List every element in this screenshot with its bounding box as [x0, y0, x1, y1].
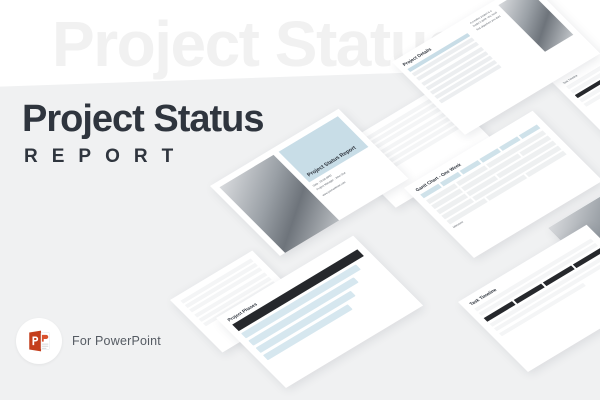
details-quote: A creative project is a leader's spirit.…: [469, 7, 505, 32]
template-preview-canvas: Project Status Task Timeline: [0, 0, 600, 400]
page-title: Project Status: [22, 100, 264, 140]
powerpoint-icon-circle: [16, 318, 62, 364]
powerpoint-icon: [26, 328, 52, 354]
powerpoint-badge-label: For PowerPoint: [72, 334, 161, 348]
page-subtitle: REPORT: [24, 146, 187, 168]
powerpoint-badge: For PowerPoint: [16, 318, 161, 364]
